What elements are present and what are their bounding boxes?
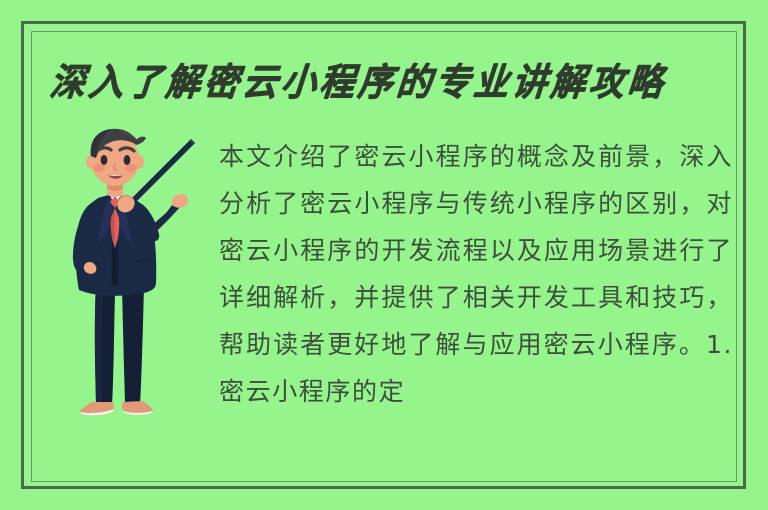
poster-canvas: 深入了解密云小程序的专业讲解攻略 本文介绍了密云小程序的概念及前景，深入分析了密…	[0, 0, 768, 510]
illustration-presenter	[60, 118, 230, 418]
legs	[95, 282, 144, 406]
page-title: 深入了解密云小程序的专业讲解攻略	[47, 54, 722, 111]
body-paragraph: 本文介绍了密云小程序的概念及前景，深入分析了密云小程序与传统小程序的区别，对密云…	[219, 133, 733, 415]
head	[86, 129, 146, 186]
shoes	[80, 401, 153, 415]
